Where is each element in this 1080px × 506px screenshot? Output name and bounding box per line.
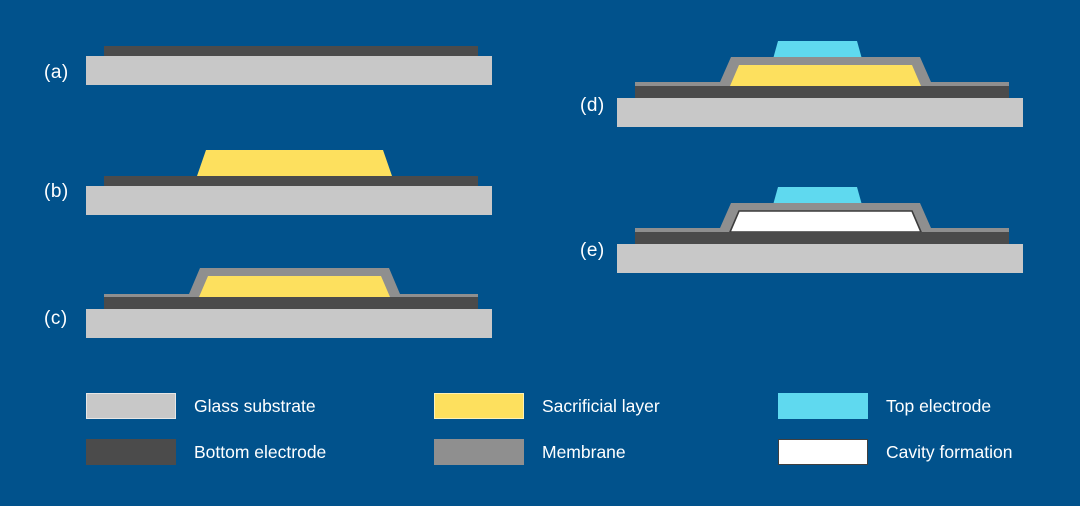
bottom-electrode-layer	[104, 46, 478, 56]
top-electrode-trapezoid	[773, 187, 862, 205]
bottom-electrode-layer	[104, 176, 478, 186]
legend-label-sacrificial-layer: Sacrificial layer	[542, 396, 660, 417]
legend-item-cavity-formation[interactable]: Cavity formation	[778, 439, 1012, 465]
legend-label-cavity-formation: Cavity formation	[886, 442, 1012, 463]
legend-item-sacrificial-layer[interactable]: Sacrificial layer	[434, 393, 660, 419]
glass-substrate-layer	[86, 56, 492, 85]
legend-item-top-electrode[interactable]: Top electrode	[778, 393, 991, 419]
sacrificial-layer-trapezoid	[730, 65, 921, 86]
figure-canvas: (a) (b) (c) (d) (e)	[0, 0, 1080, 506]
legend-item-membrane[interactable]: Membrane	[434, 439, 626, 465]
glass-substrate-layer	[86, 186, 492, 215]
bottom-electrode-layer	[635, 232, 1009, 244]
glass-substrate-layer	[86, 309, 492, 338]
glass-substrate-swatch	[86, 393, 176, 419]
cavity-formation-swatch	[778, 439, 868, 465]
sacrificial-layer-trapezoid	[199, 276, 390, 297]
panel-label-c: (c)	[44, 308, 68, 330]
top-electrode-trapezoid	[773, 41, 862, 59]
bottom-electrode-layer	[104, 297, 478, 309]
membrane-swatch	[434, 439, 524, 465]
bottom-electrode-swatch	[86, 439, 176, 465]
top-electrode-swatch	[778, 393, 868, 419]
glass-substrate-layer	[617, 244, 1023, 273]
panel-label-d: (d)	[580, 95, 605, 117]
sacrificial-layer-trapezoid	[197, 150, 392, 176]
legend-label-bottom-electrode: Bottom electrode	[194, 442, 326, 463]
legend-item-bottom-electrode[interactable]: Bottom electrode	[86, 439, 326, 465]
panel-d-cross-section	[617, 38, 1027, 123]
panel-e-cross-section	[617, 184, 1027, 269]
panel-a-cross-section	[86, 46, 496, 91]
panel-label-b: (b)	[44, 181, 69, 203]
bottom-electrode-layer	[635, 86, 1009, 98]
sacrificial-layer-swatch	[434, 393, 524, 419]
cavity-void	[730, 211, 921, 232]
legend-label-membrane: Membrane	[542, 442, 626, 463]
legend-label-top-electrode: Top electrode	[886, 396, 991, 417]
panel-b-cross-section	[86, 147, 496, 209]
panel-label-a: (a)	[44, 62, 69, 84]
panel-label-e: (e)	[580, 240, 605, 262]
glass-substrate-layer	[617, 98, 1023, 127]
legend-label-glass-substrate: Glass substrate	[194, 396, 316, 417]
panel-c-cross-section	[86, 264, 496, 336]
legend-item-glass-substrate[interactable]: Glass substrate	[86, 393, 316, 419]
